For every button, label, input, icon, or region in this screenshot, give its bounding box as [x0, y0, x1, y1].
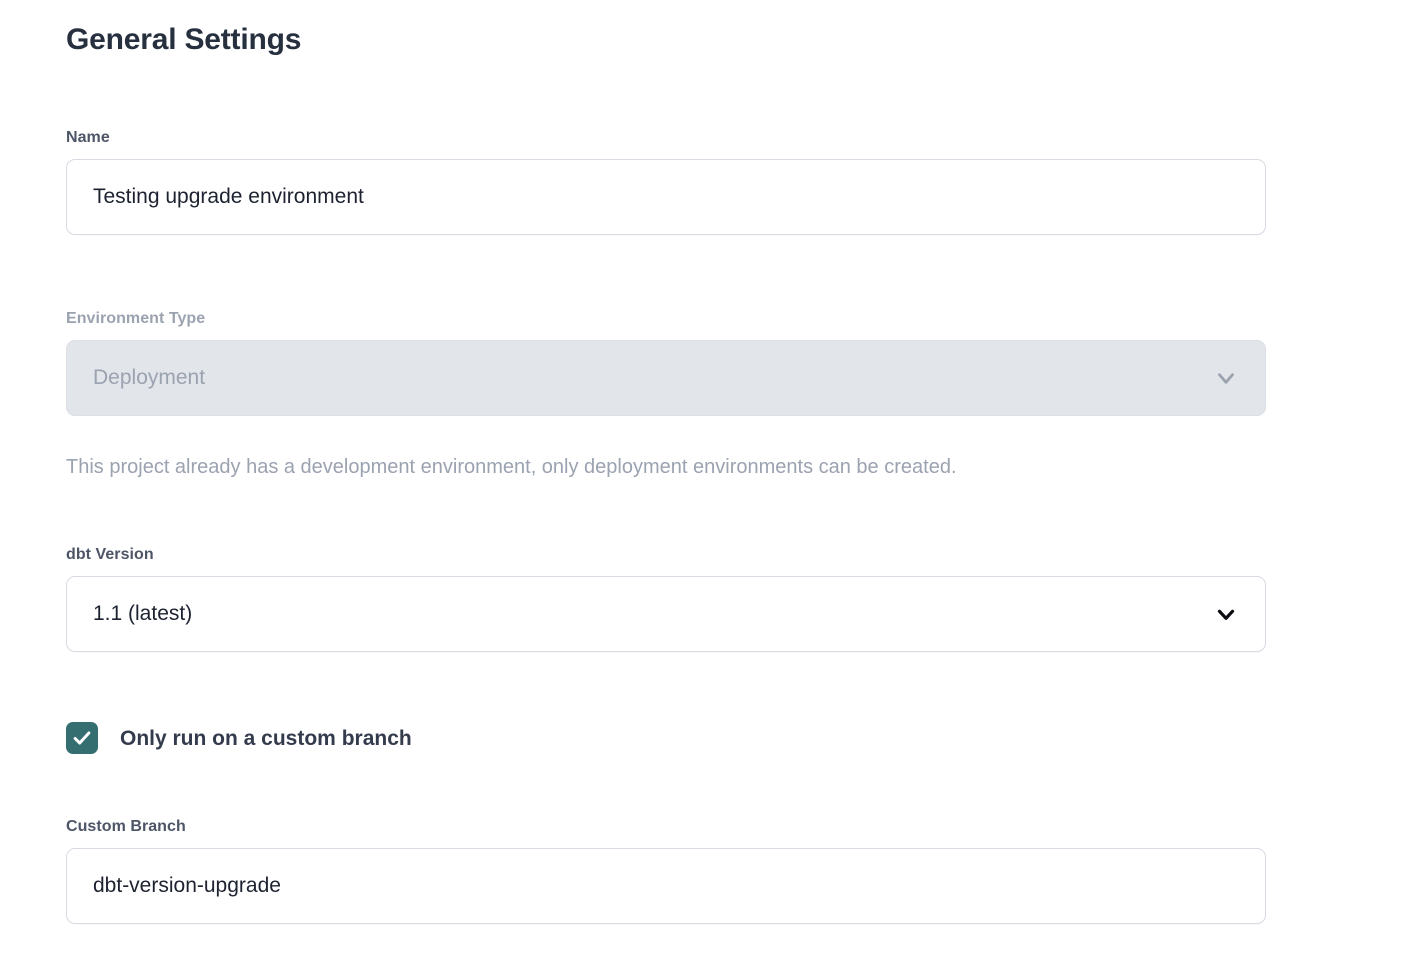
page-title: General Settings	[66, 22, 301, 58]
environment-type-helper-text: This project already has a development e…	[66, 454, 957, 480]
environment-type-field-group: Environment Type Deployment	[66, 309, 1266, 416]
chevron-down-icon	[1213, 601, 1239, 627]
custom-branch-label: Custom Branch	[66, 817, 1266, 836]
general-settings-page: General Settings Name Testing upgrade en…	[0, 0, 1406, 958]
name-field-group: Name Testing upgrade environment	[66, 128, 1266, 235]
custom-branch-checkbox-row[interactable]: Only run on a custom branch	[66, 722, 412, 754]
custom-branch-field-group: Custom Branch dbt-version-upgrade	[66, 817, 1266, 924]
custom-branch-input[interactable]: dbt-version-upgrade	[66, 848, 1266, 924]
name-label: Name	[66, 128, 1266, 147]
environment-type-value: Deployment	[93, 366, 205, 390]
environment-type-label: Environment Type	[66, 309, 1266, 328]
dbt-version-select[interactable]: 1.1 (latest)	[66, 576, 1266, 652]
dbt-version-field-group: dbt Version 1.1 (latest)	[66, 545, 1266, 652]
dbt-version-value: 1.1 (latest)	[93, 602, 192, 626]
name-input[interactable]: Testing upgrade environment	[66, 159, 1266, 235]
dbt-version-label: dbt Version	[66, 545, 1266, 564]
custom-branch-checkbox-label: Only run on a custom branch	[120, 728, 412, 749]
environment-type-select[interactable]: Deployment	[66, 340, 1266, 416]
chevron-down-icon	[1213, 365, 1239, 391]
custom-branch-checkbox[interactable]	[66, 722, 98, 754]
